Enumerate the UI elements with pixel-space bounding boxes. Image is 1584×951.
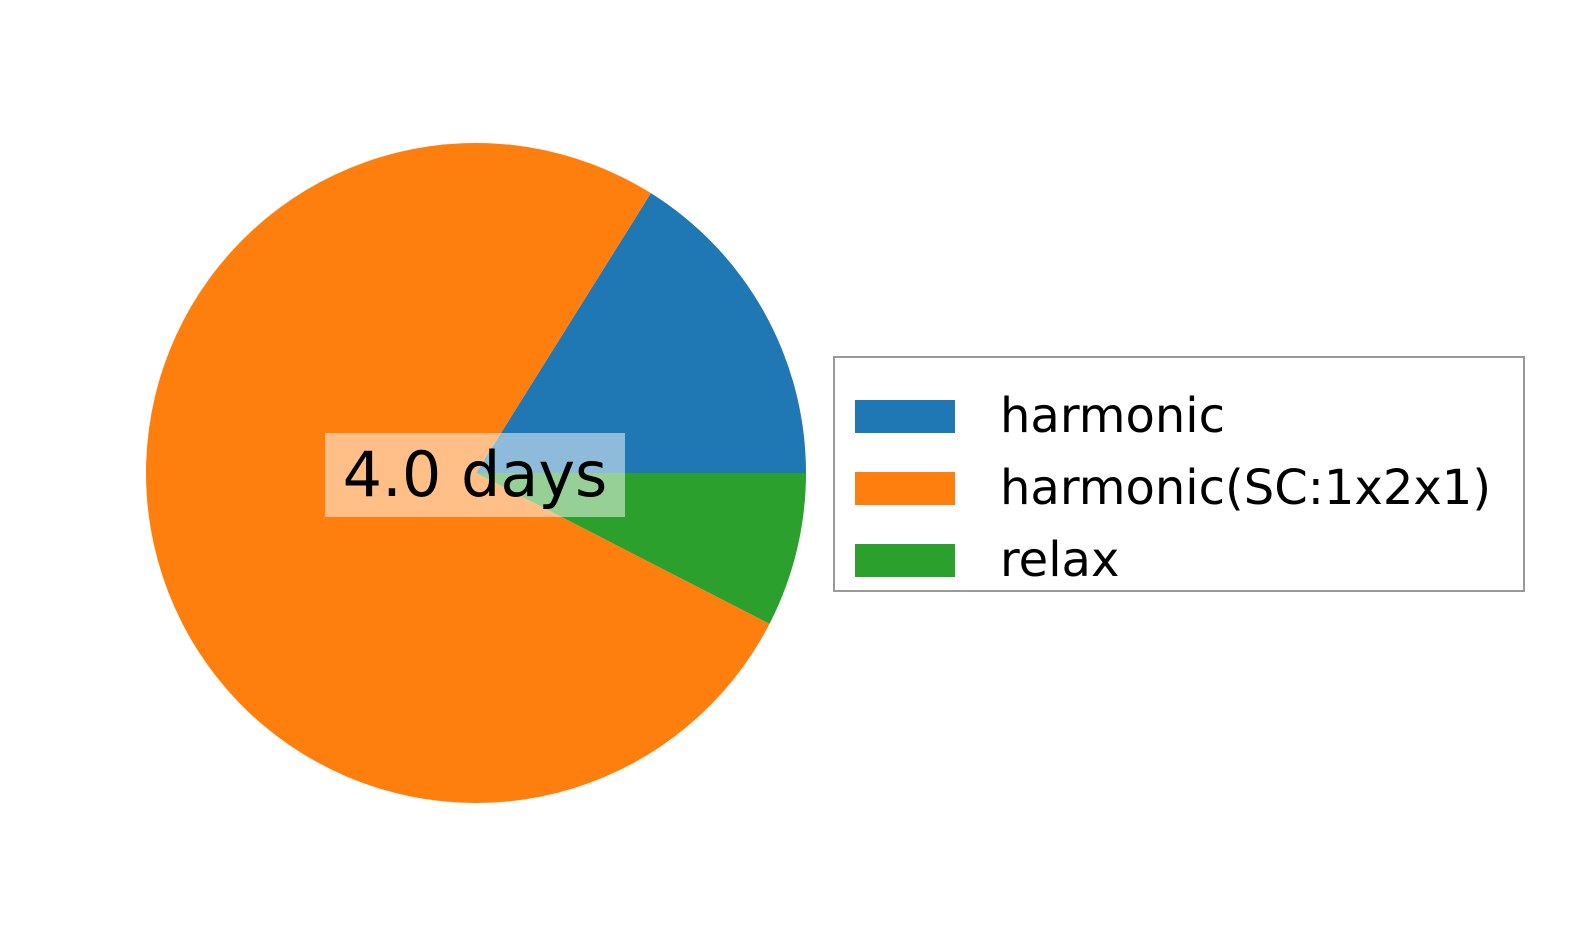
legend-item-harmonic[interactable]: harmonic — [855, 380, 1523, 452]
legend-item-harmonic-sc[interactable]: harmonic(SC:1x2x1) — [855, 452, 1523, 524]
legend-item-relax[interactable]: relax — [855, 524, 1523, 596]
legend-label-relax: relax — [1000, 536, 1119, 584]
legend-swatch-harmonic-sc — [855, 472, 955, 505]
center-total-label: 4.0 days — [325, 433, 625, 517]
legend-swatch-harmonic — [855, 400, 955, 433]
pie-chart-figure: 4.0 days harmonic harmonic(SC:1x2x1) rel… — [0, 0, 1584, 951]
legend-label-harmonic: harmonic — [1000, 392, 1225, 440]
legend-swatch-relax — [855, 544, 955, 577]
legend-label-harmonic-sc: harmonic(SC:1x2x1) — [1000, 464, 1491, 512]
legend: harmonic harmonic(SC:1x2x1) relax — [833, 356, 1525, 592]
